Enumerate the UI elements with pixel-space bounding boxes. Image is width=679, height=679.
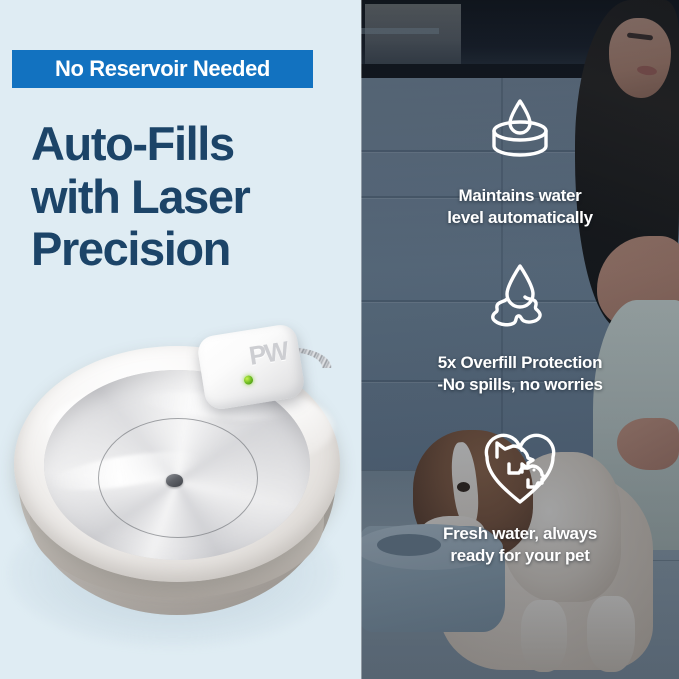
no-reservoir-badge: No Reservoir Needed xyxy=(12,50,313,88)
feature-line-1: Fresh water, always xyxy=(443,523,597,545)
water-bowl-droplet-icon xyxy=(481,92,559,175)
panel-divider xyxy=(361,0,362,679)
badge-label: No Reservoir Needed xyxy=(55,58,270,80)
brand-logo: PW xyxy=(247,334,288,373)
headline-line-2: with Laser xyxy=(31,171,351,224)
product-feature-infographic: No Reservoir Needed Auto-Fills with Lase… xyxy=(0,0,679,679)
feature-line-2: level automatically xyxy=(447,207,592,229)
feature-text: 5x Overfill Protection -No spills, no wo… xyxy=(437,352,602,396)
water-nozzle xyxy=(166,474,183,487)
feature-line-2: -No spills, no worries xyxy=(437,374,602,396)
feature-item: Maintains water level automatically xyxy=(375,92,665,229)
feature-line-1: 5x Overfill Protection xyxy=(437,352,602,374)
headline: Auto-Fills with Laser Precision xyxy=(31,118,351,276)
laser-sensor-module: PW xyxy=(196,323,306,412)
feature-item: Fresh water, always ready for your pet xyxy=(375,426,665,567)
left-panel: No Reservoir Needed Auto-Fills with Lase… xyxy=(0,0,361,679)
feature-list: Maintains water level automatically 5x O… xyxy=(361,0,679,679)
dog-cat-heart-icon xyxy=(477,426,563,513)
status-led-icon xyxy=(243,375,253,385)
feature-text: Maintains water level automatically xyxy=(447,185,592,229)
droplet-splash-icon xyxy=(481,259,559,342)
headline-line-3: Precision xyxy=(31,223,351,276)
feature-line-2: ready for your pet xyxy=(443,545,597,567)
feature-item: 5x Overfill Protection -No spills, no wo… xyxy=(375,259,665,396)
product-photo: PW xyxy=(0,318,361,679)
feature-line-1: Maintains water xyxy=(447,185,592,207)
headline-line-1: Auto-Fills xyxy=(31,118,351,171)
right-panel: Maintains water level automatically 5x O… xyxy=(361,0,679,679)
feature-text: Fresh water, always ready for your pet xyxy=(443,523,597,567)
